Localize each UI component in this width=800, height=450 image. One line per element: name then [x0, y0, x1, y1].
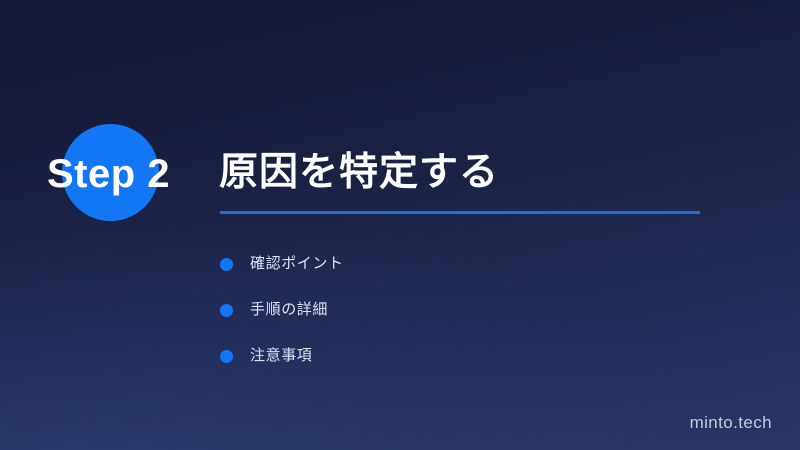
- step-badge-label: Step 2: [47, 152, 207, 196]
- bullet-list: 確認ポイント 手順の詳細 注意事項: [220, 241, 680, 379]
- bullet-dot-icon: [220, 304, 233, 317]
- slide-stage: Step 2 原因を特定する 確認ポイント 手順の詳細 注意事項 minto.t…: [0, 0, 800, 450]
- list-item: 手順の詳細: [220, 287, 680, 333]
- bullet-label: 確認ポイント: [250, 254, 344, 274]
- presentation-slide: Step 2 原因を特定する 確認ポイント 手順の詳細 注意事項 minto.t…: [0, 0, 800, 450]
- watermark-label: minto.tech: [690, 412, 772, 434]
- title-divider: [220, 211, 700, 214]
- list-item: 確認ポイント: [220, 241, 680, 287]
- bullet-label: 手順の詳細: [250, 300, 328, 320]
- bullet-dot-icon: [220, 350, 233, 363]
- slide-title: 原因を特定する: [219, 148, 499, 198]
- list-item: 注意事項: [220, 333, 680, 379]
- bullet-dot-icon: [220, 258, 233, 271]
- bullet-label: 注意事項: [250, 346, 312, 366]
